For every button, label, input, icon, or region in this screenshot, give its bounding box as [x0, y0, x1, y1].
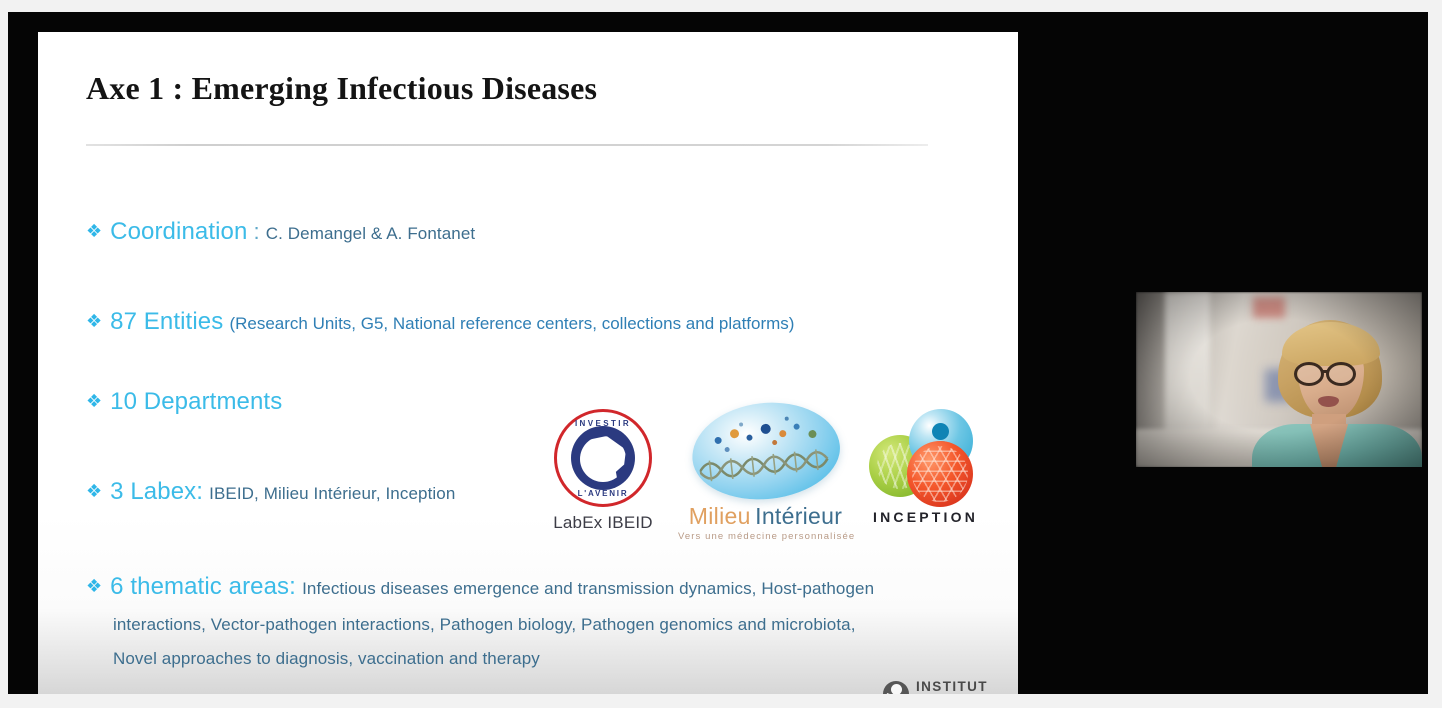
- inception-caption: INCEPTION: [858, 509, 993, 525]
- pasteur-wordmark: INSTITUT PASTEUR: [916, 680, 989, 694]
- bullet-separator: :: [247, 219, 265, 244]
- bullet-lead-text: 3 Labex:: [110, 478, 203, 505]
- pasteur-line-institut: INSTITUT: [916, 679, 988, 694]
- bullet-body-line-1: Infectious diseases emergence and transm…: [302, 579, 874, 598]
- bullet-diamond-icon: ❖: [86, 311, 102, 332]
- inception-circles-icon: [867, 407, 985, 507]
- ibeid-arc-bottom-text: L'AVENIR: [557, 489, 649, 498]
- presentation-viewer: Axe 1 : Emerging Infectious Diseases ❖Co…: [8, 12, 1428, 694]
- bullet-body-line-2: interactions, Vector-pathogen interactio…: [113, 616, 966, 633]
- marianne-head-icon: [571, 426, 635, 490]
- bullet-body-text: IBEID, Milieu Intérieur, Inception: [209, 484, 455, 503]
- bullet-thematic-areas: ❖6 thematic areas: Infectious diseases e…: [86, 575, 966, 667]
- pasteur-mark-icon: [883, 681, 909, 694]
- bullet-body-text: (Research Units, G5, National reference …: [229, 314, 794, 333]
- bullet-diamond-icon: ❖: [86, 481, 102, 502]
- inception-logo: INCEPTION: [858, 407, 993, 525]
- bullet-lead-text: 87 Entities: [110, 308, 223, 335]
- investir-lavenir-icon: INVESTIR L'AVENIR: [554, 409, 652, 507]
- page-background: Axe 1 : Emerging Infectious Diseases ❖Co…: [0, 0, 1442, 708]
- bullet-body-line-3: Novel approaches to diagnosis, vaccinati…: [113, 650, 966, 667]
- title-divider: [86, 144, 928, 146]
- petri-dish-icon: [687, 396, 844, 507]
- partner-logo-strip: INVESTIR L'AVENIR LabEx IBEID: [528, 397, 998, 547]
- milieu-interieur-logo: Milieu Intérieur Vers une médecine perso…: [678, 403, 853, 542]
- bullet-body-text: C. Demangel & A. Fontanet: [266, 224, 475, 243]
- person-silhouette-head: [932, 423, 949, 440]
- bullet-lead-text: Coordination: [110, 218, 247, 245]
- page-title: Axe 1 : Emerging Infectious Diseases: [86, 70, 597, 107]
- milieu-word-interieur: Intérieur: [755, 503, 842, 529]
- milieu-tagline: Vers une médecine personnalisée: [678, 531, 853, 542]
- bullet-entities: ❖87 Entities (Research Units, G5, Nation…: [86, 310, 976, 334]
- slide-canvas: Axe 1 : Emerging Infectious Diseases ❖Co…: [38, 32, 1018, 694]
- bullet-coordination: ❖Coordination : C. Demangel & A. Fontane…: [86, 220, 976, 244]
- milieu-word-milieu: Milieu: [689, 503, 751, 529]
- labex-ibeid-logo: INVESTIR L'AVENIR LabEx IBEID: [538, 409, 668, 533]
- bullet-diamond-icon: ❖: [86, 576, 102, 597]
- inception-red-circle: [907, 441, 973, 507]
- bullet-lead-text: 6 thematic areas:: [110, 573, 296, 600]
- pasteur-line-pasteur: PASTEUR: [916, 693, 989, 694]
- milieu-interieur-caption: Milieu Intérieur Vers une médecine perso…: [678, 503, 853, 542]
- bullet-diamond-icon: ❖: [86, 221, 102, 242]
- bullet-lead-text: 10 Departments: [110, 388, 282, 415]
- institut-pasteur-logo: INSTITUT PASTEUR: [883, 680, 989, 694]
- dna-helix-icon: [698, 442, 837, 488]
- participant-video-tile[interactable]: [1136, 292, 1422, 467]
- bullet-diamond-icon: ❖: [86, 391, 102, 412]
- video-vignette: [1136, 292, 1422, 467]
- labex-ibeid-caption: LabEx IBEID: [538, 513, 668, 533]
